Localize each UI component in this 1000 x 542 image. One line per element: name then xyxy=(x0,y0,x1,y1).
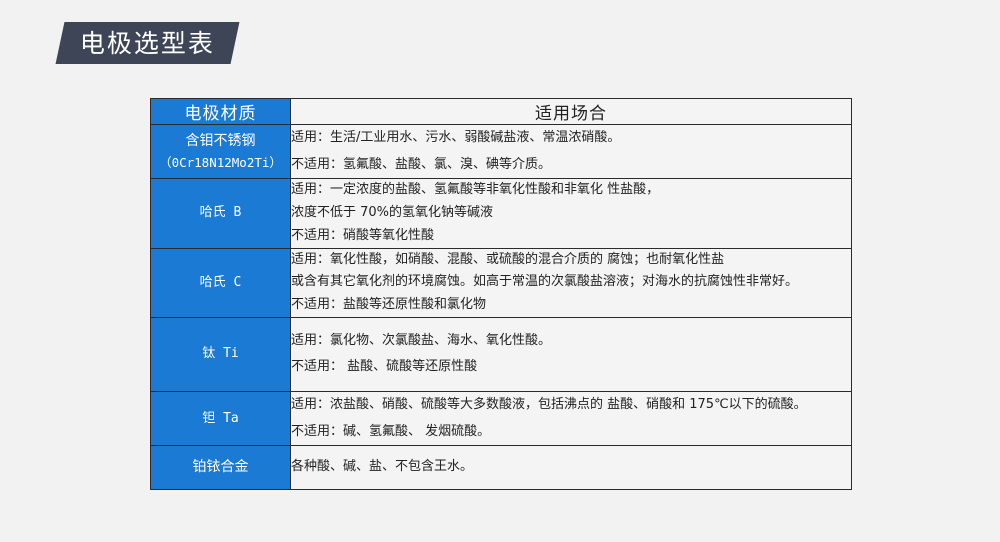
material-name: 含钼不锈钢 xyxy=(151,131,290,153)
usage-line: 适用：氧化性酸，如硝酸、混酸、或硫酸的混合介质的 腐蚀；也耐氧化性盐 xyxy=(291,249,851,272)
usage-line: 适用：一定浓度的盐酸、氢氟酸等非氧化性酸和非氧化 性盐酸， xyxy=(291,179,851,202)
usage-line: 适用：生活/工业用水、污水、弱酸碱盐液、常温浓硝酸。 xyxy=(291,125,851,152)
table-row: 钛 Ti 适用：氯化物、次氯酸盐、海水、氧化性酸。 不适用： 盐酸、硫酸等还原性… xyxy=(151,317,852,391)
usage-cell: 适用：浓盐酸、硝酸、硫酸等大多数酸液，包括沸点的 盐酸、硝酸和 175℃以下的硫… xyxy=(291,392,852,446)
electrode-selection-table-container: 电极材质 适用场合 含钼不锈钢 （0Cr18N12Mo2Ti） 适用：生活/工业… xyxy=(150,98,851,490)
page-title-banner: 电极选型表 xyxy=(56,22,240,64)
usage-line: 不适用：氢氟酸、盐酸、氯、溴、碘等介质。 xyxy=(291,152,851,179)
material-name: 铂铱合金 xyxy=(151,457,290,479)
usage-line: 适用：浓盐酸、硝酸、硫酸等大多数酸液，包括沸点的 盐酸、硝酸和 175℃以下的硫… xyxy=(291,392,851,419)
usage-cell: 各种酸、碱、盐、不包含王水。 xyxy=(291,446,852,490)
material-cell: 含钼不锈钢 （0Cr18N12Mo2Ti） xyxy=(151,125,291,179)
table-header-row: 电极材质 适用场合 xyxy=(151,99,852,125)
usage-cell: 适用：生活/工业用水、污水、弱酸碱盐液、常温浓硝酸。 不适用：氢氟酸、盐酸、氯、… xyxy=(291,125,852,179)
usage-line: 或含有其它氧化剂的环境腐蚀。如高于常温的次氯酸盐溶液；对海水的抗腐蚀性非常好。 xyxy=(291,271,851,294)
table-row: 钽 Ta 适用：浓盐酸、硝酸、硫酸等大多数酸液，包括沸点的 盐酸、硝酸和 175… xyxy=(151,392,852,446)
usage-line: 不适用：盐酸等还原性酸和氯化物 xyxy=(291,294,851,317)
material-cell: 钛 Ti xyxy=(151,317,291,391)
material-cell: 哈氏 C xyxy=(151,248,291,317)
usage-line: 适用：氯化物、次氯酸盐、海水、氧化性酸。 xyxy=(291,328,851,355)
material-cell: 哈氏 B xyxy=(151,179,291,248)
table-row: 哈氏 B 适用：一定浓度的盐酸、氢氟酸等非氧化性酸和非氧化 性盐酸， 浓度不低于… xyxy=(151,179,852,248)
material-code: （0Cr18N12Mo2Ti） xyxy=(151,153,290,172)
table-row: 哈氏 C 适用：氧化性酸，如硝酸、混酸、或硫酸的混合介质的 腐蚀；也耐氧化性盐 … xyxy=(151,248,852,317)
material-cell: 钽 Ta xyxy=(151,392,291,446)
column-header-material: 电极材质 xyxy=(151,99,291,125)
material-name: 哈氏 C xyxy=(151,273,290,293)
table-row: 铂铱合金 各种酸、碱、盐、不包含王水。 xyxy=(151,446,852,490)
usage-line: 不适用： 盐酸、硫酸等还原性酸 xyxy=(291,354,851,381)
usage-cell: 适用：氯化物、次氯酸盐、海水、氧化性酸。 不适用： 盐酸、硫酸等还原性酸 xyxy=(291,317,852,391)
usage-line: 各种酸、碱、盐、不包含王水。 xyxy=(291,456,851,479)
electrode-selection-table: 电极材质 适用场合 含钼不锈钢 （0Cr18N12Mo2Ti） 适用：生活/工业… xyxy=(150,98,852,490)
usage-line: 浓度不低于 70%的氢氧化钠等碱液 xyxy=(291,202,851,225)
material-name: 钽 Ta xyxy=(151,409,290,429)
material-cell: 铂铱合金 xyxy=(151,446,291,490)
material-name: 钛 Ti xyxy=(151,344,290,364)
usage-line: 不适用：硝酸等氧化性酸 xyxy=(291,225,851,248)
column-header-usage: 适用场合 xyxy=(291,99,852,125)
usage-cell: 适用：一定浓度的盐酸、氢氟酸等非氧化性酸和非氧化 性盐酸， 浓度不低于 70%的… xyxy=(291,179,852,248)
page-title: 电极选型表 xyxy=(80,31,215,56)
material-name: 哈氏 B xyxy=(151,203,290,223)
usage-line: 不适用：碱、氢氟酸、 发烟硫酸。 xyxy=(291,419,851,446)
table-row: 含钼不锈钢 （0Cr18N12Mo2Ti） 适用：生活/工业用水、污水、弱酸碱盐… xyxy=(151,125,852,179)
usage-cell: 适用：氧化性酸，如硝酸、混酸、或硫酸的混合介质的 腐蚀；也耐氧化性盐 或含有其它… xyxy=(291,248,852,317)
